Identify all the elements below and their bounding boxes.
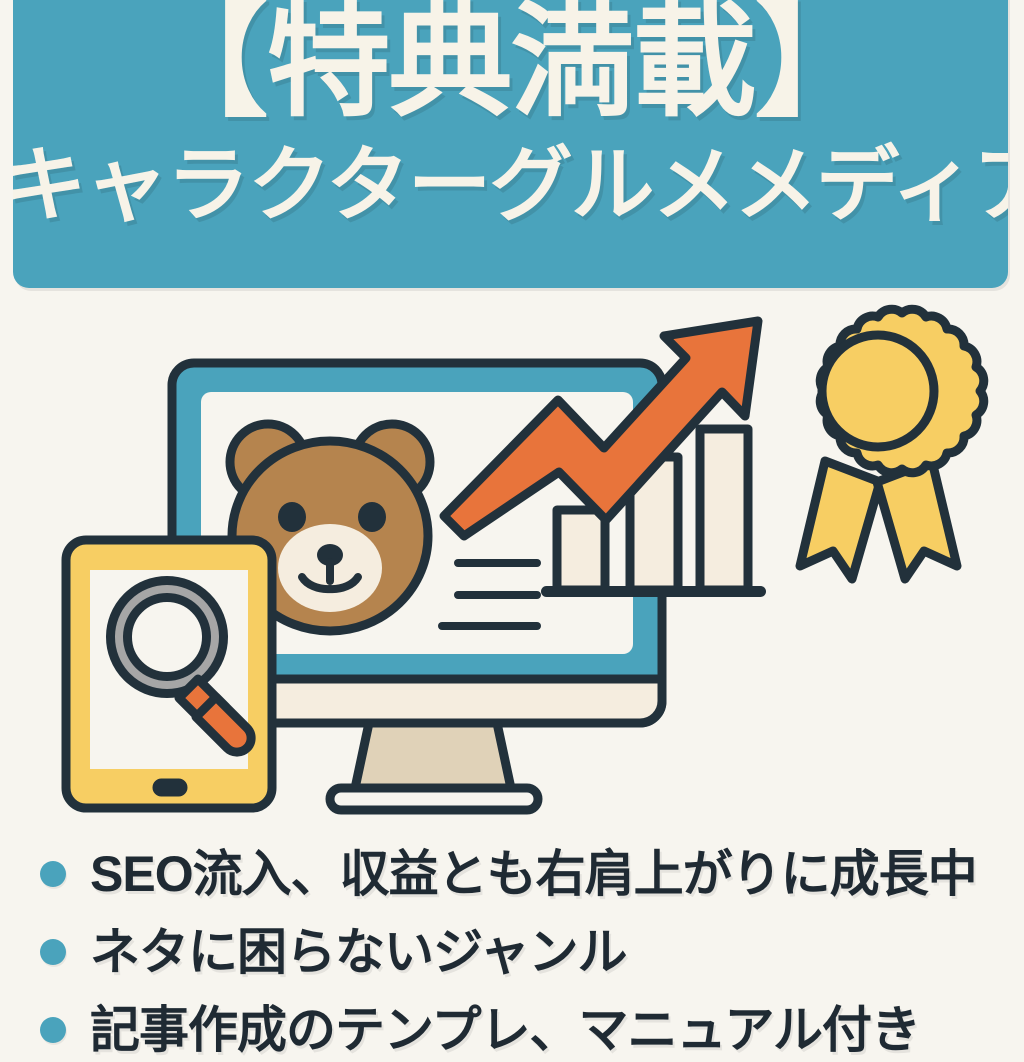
ribbon-medal-inner xyxy=(822,335,934,447)
ribbon-tail-left xyxy=(800,461,880,579)
award-ribbon-icon xyxy=(800,309,984,579)
monitor-stand-neck xyxy=(354,723,512,793)
list-item: ネタに困らないジャンル xyxy=(40,920,1024,984)
list-item: 記事作成のテンプレ、マニュアル付き xyxy=(40,998,1024,1062)
bullet-dot-icon xyxy=(40,1017,66,1043)
banner-subtitle: キャラクターグルメメディア xyxy=(13,145,1008,227)
illustration-svg: .ol{stroke:#22313B;stroke-width:9;stroke… xyxy=(0,296,1024,826)
ribbon-tail-right xyxy=(877,461,957,579)
bullet-dot-icon xyxy=(40,861,66,887)
banner-title: 【特典満載】 xyxy=(13,0,1008,124)
bullet-text: 記事作成のテンプレ、マニュアル付き xyxy=(90,1004,920,1057)
bullet-text: ネタに困らないジャンル xyxy=(90,926,627,979)
header-banner: 【特典満載】 キャラクターグルメメディア xyxy=(13,0,1008,288)
bullet-dot-icon xyxy=(40,939,66,965)
bear-eye-left xyxy=(278,502,306,532)
tablet-home-button xyxy=(157,783,183,792)
monitor-stand-base xyxy=(330,788,538,810)
illustration-area: .ol{stroke:#22313B;stroke-width:9;stroke… xyxy=(0,296,1024,826)
bar-chart-baseline xyxy=(541,586,766,597)
bear-eye-right xyxy=(358,502,386,532)
list-item: SEO流入、収益とも右肩上がりに成長中 xyxy=(40,842,1024,906)
poster-canvas: 【特典満載】 キャラクターグルメメディア .ol{stroke:#22313B;… xyxy=(0,0,1024,1024)
bar-1 xyxy=(557,510,605,590)
bullet-text: SEO流入、収益とも右肩上がりに成長中 xyxy=(90,848,977,901)
feature-bullet-list: SEO流入、収益とも右肩上がりに成長中 ネタに困らないジャンル 記事作成のテンプ… xyxy=(0,832,1024,1032)
bar-3 xyxy=(700,429,748,590)
